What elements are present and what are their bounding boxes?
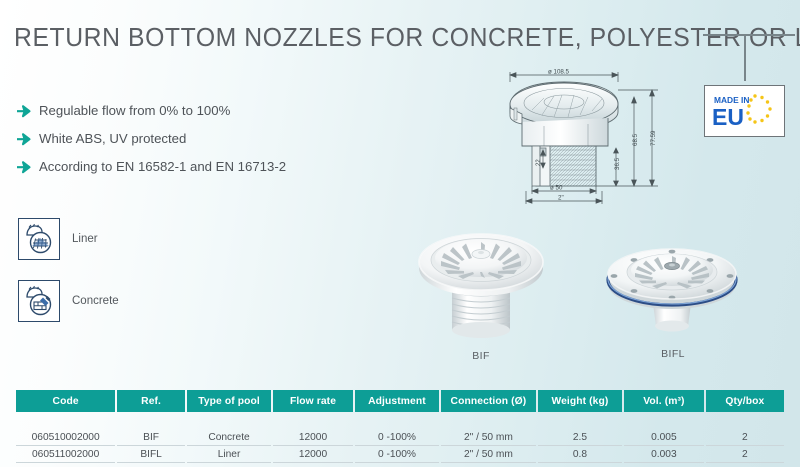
cell-volume: 0.005 xyxy=(624,429,704,446)
list-item: According to EN 16582-1 and EN 16713-2 xyxy=(16,154,346,179)
column-header-flow-rate[interactable]: Flow rate xyxy=(273,390,353,412)
pictogram-label: Concrete xyxy=(72,295,119,307)
arrow-right-icon xyxy=(16,160,32,174)
specification-table: Code Ref. Type of pool Flow rate Adjustm… xyxy=(14,390,786,463)
dim-inner-diameter: ø 50 xyxy=(550,185,563,192)
pictogram-frame xyxy=(18,218,60,260)
product-datasheet-page: RETURN BOTTOM NOZZLES FOR CONCRETE, POLY… xyxy=(0,0,800,467)
cell-weight: 2.5 xyxy=(538,429,622,446)
arrow-right-icon xyxy=(16,104,32,118)
bifl-nozzle-illustration xyxy=(592,222,752,344)
cell-type: Concrete xyxy=(187,429,271,446)
cell-ref: BIF xyxy=(117,429,185,446)
list-item-label: Regulable flow from 0% to 100% xyxy=(39,103,230,118)
cell-adjustment: 0 -100% xyxy=(355,446,439,463)
pictogram-label: Liner xyxy=(72,233,98,245)
column-header-ref[interactable]: Ref. xyxy=(117,390,185,412)
bif-nozzle-illustration xyxy=(396,214,566,349)
made-in-eu-badge: MADE IN EU xyxy=(704,85,785,137)
dim-body-height: 68.5 xyxy=(632,133,639,146)
column-header-volume[interactable]: Vol. (m³) xyxy=(624,390,704,412)
feature-list: Regulable flow from 0% to 100% White ABS… xyxy=(16,98,346,182)
product-photo-bifl xyxy=(592,222,752,344)
dim-thread-length: 36.5 xyxy=(614,157,621,170)
cell-qty-box: 2 xyxy=(706,446,784,463)
cell-connection: 2" / 50 mm xyxy=(441,446,536,463)
cell-volume: 0.003 xyxy=(624,446,704,463)
cell-flow-rate: 12000 xyxy=(273,446,353,463)
header-divider-vertical xyxy=(744,34,746,81)
table-row[interactable]: 060511002000 BIFL Liner 12000 0 -100% 2"… xyxy=(16,446,784,463)
photo-caption-bif: BIF xyxy=(436,350,526,362)
column-header-adjustment[interactable]: Adjustment xyxy=(355,390,439,412)
cell-connection: 2" / 50 mm xyxy=(441,429,536,446)
list-item-label: White ABS, UV protected xyxy=(39,131,186,146)
table-row[interactable]: 060510002000 BIF Concrete 12000 0 -100% … xyxy=(16,429,784,446)
column-header-qty-box[interactable]: Qty/box xyxy=(706,390,784,412)
column-header-code[interactable]: Code xyxy=(16,390,115,412)
pictogram-frame xyxy=(18,280,60,322)
list-item: White ABS, UV protected xyxy=(16,126,346,151)
technical-drawing: ø 108.5 77.59 68.5 36.5 xyxy=(492,60,677,210)
liner-pool-icon xyxy=(22,222,56,256)
table-spacer-cell xyxy=(16,412,784,429)
pictogram-concrete: Concrete xyxy=(18,280,119,322)
cross-section-svg: ø 108.5 77.59 68.5 36.5 xyxy=(492,60,677,210)
list-item-label: According to EN 16582-1 and EN 16713-2 xyxy=(39,159,286,174)
column-header-type-of-pool[interactable]: Type of pool xyxy=(187,390,271,412)
pictogram-liner: Liner xyxy=(18,218,119,260)
cell-code: 060510002000 xyxy=(16,429,115,446)
specification-table-container: Code Ref. Type of pool Flow rate Adjustm… xyxy=(14,390,786,463)
cell-qty-box: 2 xyxy=(706,429,784,446)
table-body: 060510002000 BIF Concrete 12000 0 -100% … xyxy=(16,412,784,463)
photo-caption-bifl: BIFL xyxy=(628,348,718,360)
column-header-weight[interactable]: Weight (kg) xyxy=(538,390,622,412)
header-divider-horizontal xyxy=(703,34,795,36)
pictogram-list: Liner Concrete xyxy=(18,218,119,342)
list-item: Regulable flow from 0% to 100% xyxy=(16,98,346,123)
eu-text: EU xyxy=(712,104,744,130)
cell-adjustment: 0 -100% xyxy=(355,429,439,446)
column-header-connection[interactable]: Connection (Ø) xyxy=(441,390,536,412)
concrete-pool-icon xyxy=(22,284,56,318)
dim-outer-diameter: ø 108.5 xyxy=(548,68,570,75)
arrow-right-icon xyxy=(16,132,32,146)
dim-total-height: 77.59 xyxy=(650,130,657,146)
table-spacer xyxy=(16,412,784,429)
eu-stars-icon xyxy=(746,94,771,123)
cell-flow-rate: 12000 xyxy=(273,429,353,446)
cell-type: Liner xyxy=(187,446,271,463)
dim-connection-size: 2" xyxy=(558,195,564,202)
product-photo-bif xyxy=(396,214,566,349)
cell-weight: 0.8 xyxy=(538,446,622,463)
cell-code: 060511002000 xyxy=(16,446,115,463)
made-in-eu-icon: MADE IN EU xyxy=(705,86,782,134)
table-header: Code Ref. Type of pool Flow rate Adjustm… xyxy=(16,390,784,412)
dim-inner-offset: 22 xyxy=(536,159,542,166)
page-title: RETURN BOTTOM NOZZLES FOR CONCRETE, POLY… xyxy=(14,24,800,53)
cell-ref: BIFL xyxy=(117,446,185,463)
table-header-row: Code Ref. Type of pool Flow rate Adjustm… xyxy=(16,390,784,412)
